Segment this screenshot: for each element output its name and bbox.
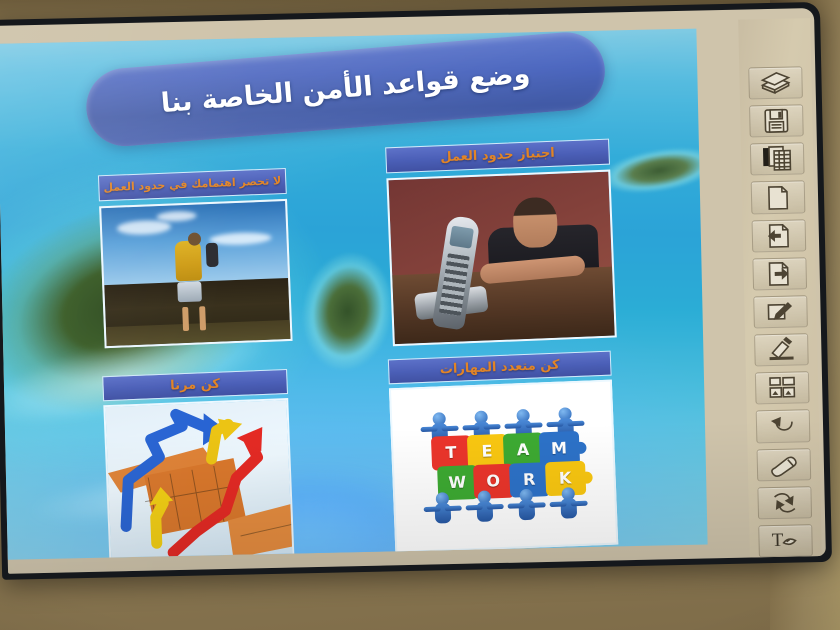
pen-tool-icon[interactable]: [753, 295, 808, 328]
card-crossing-boundaries[interactable]: اجتياز حدود العمل: [385, 139, 617, 347]
flexible-arrows-photo: [103, 398, 294, 560]
hiker-shorts: [177, 282, 202, 303]
page-previous-icon[interactable]: [752, 219, 807, 252]
slide-title-pill: وضع قواعد الأمن الخاصة بنا: [83, 29, 608, 149]
hiker-photo: [99, 199, 292, 348]
card-crossing-boundaries-caption: اجتياز حدود العمل: [385, 139, 610, 174]
page-next-icon[interactable]: [752, 257, 807, 290]
figure-icon: [513, 488, 540, 523]
undo-icon[interactable]: [756, 410, 811, 443]
whiteboard-surface[interactable]: وضع قواعد الأمن الخاصة بنا لا تحصر اهتما…: [0, 8, 826, 574]
save-floppy-icon[interactable]: [749, 104, 804, 137]
arrows-illustration: [105, 400, 294, 560]
card-be-flexible[interactable]: كن مرنا: [102, 369, 294, 560]
phone-screen: [450, 226, 475, 249]
highlighter-icon[interactable]: [754, 333, 809, 366]
card-be-multiskilled-caption: كن متعدد المهارات: [388, 351, 612, 385]
figure-icon: [554, 486, 581, 521]
teamwork-photo: TEAM WORK: [389, 380, 618, 554]
slide-title: وضع قواعد الأمن الخاصة بنا: [138, 56, 553, 122]
thumbnails-icon[interactable]: [755, 371, 810, 404]
hiker-body: [174, 240, 202, 281]
hiker-leg: [199, 306, 206, 330]
new-page-icon[interactable]: [751, 181, 806, 214]
island-small-right: [597, 140, 708, 201]
library-books-icon[interactable]: [748, 66, 803, 99]
backpack: [206, 242, 219, 266]
interactive-whiteboard[interactable]: وضع قواعد الأمن الخاصة بنا لا تحصر اهتما…: [0, 2, 832, 580]
hiker-leg: [182, 307, 189, 331]
figure-icon: [429, 491, 456, 526]
man-head: [512, 197, 558, 249]
phone-photo: [386, 170, 616, 347]
text-tool-icon[interactable]: T: [758, 524, 813, 557]
whiteboard-toolbar[interactable]: T: [738, 18, 822, 557]
spreadsheet-page-icon[interactable]: [750, 143, 805, 176]
redo-icon[interactable]: [757, 486, 812, 519]
figure-icon: [471, 490, 498, 525]
card-be-multiskilled[interactable]: كن متعدد المهارات TEAM WORK: [388, 351, 618, 554]
eraser-icon[interactable]: [757, 448, 812, 481]
projected-slide[interactable]: وضع قواعد الأمن الخاصة بنا لا تحصر اهتما…: [0, 29, 708, 560]
screenshot-stage: وضع قواعد الأمن الخاصة بنا لا تحصر اهتما…: [0, 0, 840, 630]
phone-keypad: [439, 254, 470, 317]
card-work-limits[interactable]: لا تحصر اهتمامك في حدود العمل: [98, 168, 293, 348]
